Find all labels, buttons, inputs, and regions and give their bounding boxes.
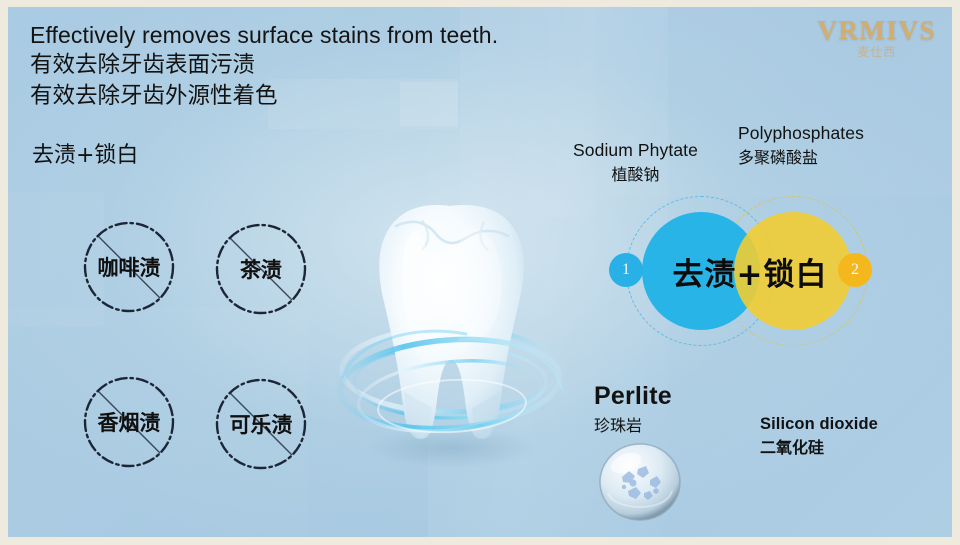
ingredient-name-cn: 珍珠岩 <box>594 412 672 436</box>
ingredient-name-en: Silicon dioxide <box>760 415 878 434</box>
slide-frame: Effectively removes surface stains from … <box>0 0 960 545</box>
venn-diagram: 去渍+锁白 1 2 <box>600 195 900 340</box>
ingredient-name-cn: 多聚磷酸盐 <box>738 144 864 168</box>
step-badge-2: 2 <box>838 253 872 287</box>
stain-label: 茶渍 <box>201 254 321 284</box>
perlite-sphere-icon <box>586 435 696 535</box>
page-title: Effectively removes surface stains from … <box>30 21 590 111</box>
ingredient-name-en: Polyphosphates <box>738 123 864 144</box>
stain-item-cigarette: 香烟渍 <box>83 376 175 468</box>
headline-english: Effectively removes surface stains from … <box>30 21 590 50</box>
slide-canvas: Effectively removes surface stains from … <box>8 7 952 537</box>
ingredient-name-en: Perlite <box>594 382 672 411</box>
stain-label: 可乐渍 <box>201 409 321 439</box>
ingredient-name-en: Sodium Phytate <box>573 140 698 161</box>
ingredient-name-cn: 二氧化硅 <box>760 434 878 458</box>
stain-item-cola: 可乐渍 <box>215 378 307 470</box>
stain-item-tea: 茶渍 <box>215 223 307 315</box>
stain-label: 香烟渍 <box>69 407 189 437</box>
perlite-image <box>586 435 696 535</box>
stain-item-coffee: 咖啡渍 <box>83 221 175 313</box>
ingredient-perlite: Perlite 珍珠岩 <box>594 382 672 436</box>
tooth-icon <box>326 192 576 482</box>
headline-chinese-line1: 有效去除牙齿表面污渍 <box>30 50 590 80</box>
tooth-illustration <box>326 192 576 482</box>
ingredient-name-cn: 植酸钠 <box>573 161 698 185</box>
stain-label: 咖啡渍 <box>69 252 189 282</box>
ingredient-sodium-phytate: Sodium Phytate 植酸钠 <box>573 140 698 185</box>
step-badge-1: 1 <box>609 253 643 287</box>
ingredient-silicon-dioxide: Silicon dioxide 二氧化硅 <box>760 415 878 458</box>
ingredient-polyphosphates: Polyphosphates 多聚磷酸盐 <box>738 123 864 168</box>
logo-wordmark: VRMIVS <box>817 15 936 46</box>
headline-chinese-line2: 有效去除牙齿外源性着色 <box>30 81 590 111</box>
logo-subtitle: 麦仕西 <box>817 43 936 60</box>
brand-logo: VRMIVS 麦仕西 <box>817 15 936 60</box>
tagline-text: 去渍+锁白 <box>32 137 138 169</box>
